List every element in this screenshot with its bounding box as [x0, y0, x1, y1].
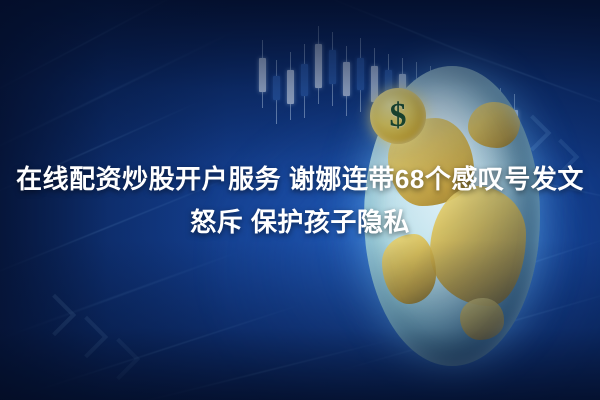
news-thumbnail-image: $ 在线配资炒股开户服务 谢娜连带68个感叹号发文怒斥 保护孩子隐私	[0, 0, 600, 400]
headline-text: 在线配资炒股开户服务 谢娜连带68个感叹号发文怒斥 保护孩子隐私	[0, 158, 600, 244]
